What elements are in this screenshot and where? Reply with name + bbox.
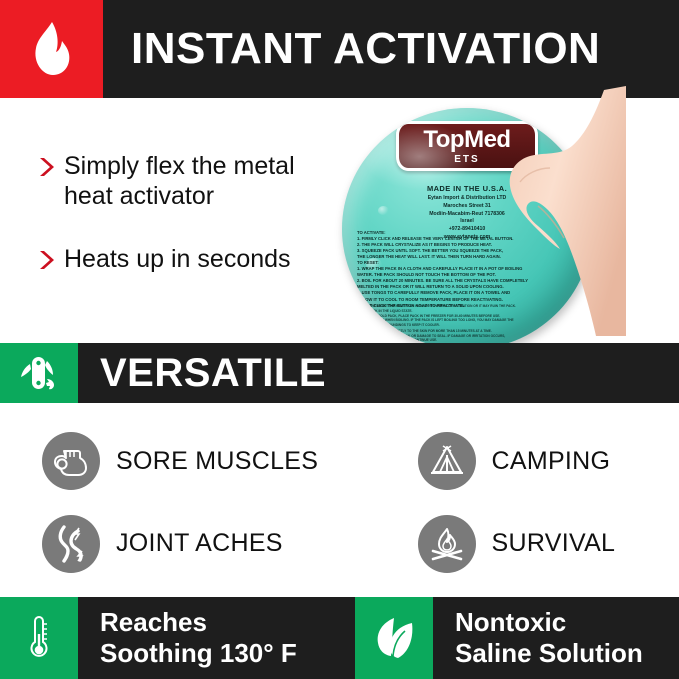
banner-instant-activation-title: INSTANT ACTIVATION [103,0,679,98]
bullet-item: Heats up in seconds [38,245,338,275]
feature-sore-muscles: SORE MUSCLES [0,420,340,503]
leaf-icon [372,615,416,661]
footer-text-block: Nontoxic Saline Solution [433,597,679,679]
hand-icon [476,86,626,336]
feature-label: SORE MUSCLES [116,447,318,476]
footer-line-2: Soothing 130° F [100,638,355,669]
tent-icon [418,432,476,490]
flame-icon-tile [0,0,103,98]
bullet-text: Heats up in seconds [64,245,291,275]
banner-instant-activation: INSTANT ACTIVATION [0,0,679,98]
footer-nontoxic-saline: Nontoxic Saline Solution [355,597,679,679]
feature-camping: CAMPING [340,420,679,503]
campfire-icon [418,515,476,573]
thermometer-icon [26,614,52,662]
chevron-right-icon [38,245,64,275]
feature-label: CAMPING [492,447,611,476]
swiss-army-knife-icon [20,353,58,393]
joint-pain-icon [42,515,100,573]
feature-joint-aches: JOINT ACHES [0,503,340,586]
footer-line-1: Reaches [100,607,355,638]
bullet-item: Simply flex the metal heat activator [38,152,338,211]
feature-label: SURVIVAL [492,529,616,558]
banner-versatile: VERSATILE [0,343,679,403]
product-photo: TopMed ETS ® MADE IN THE U.S.A. Eytan Im… [330,90,620,355]
banner-versatile-title: VERSATILE [78,343,679,403]
feature-survival: SURVIVAL [340,503,679,586]
infographic-page: INSTANT ACTIVATION Simply flex the metal… [0,0,679,679]
footer-reaches-soothing: Reaches Soothing 130° F [0,597,355,679]
footer-line-1: Nontoxic [455,607,679,638]
chevron-right-icon [38,152,64,182]
flame-icon [29,20,75,78]
footer-line-2: Saline Solution [455,638,679,669]
feature-label: JOINT ACHES [116,529,283,558]
feature-grid: SORE MUSCLES CAMPING [0,420,679,585]
footer-strips: Reaches Soothing 130° F Nontoxic Saline … [0,597,679,679]
thermometer-icon-tile [0,597,78,679]
flexed-bicep-icon [42,432,100,490]
footer-text-block: Reaches Soothing 130° F [78,597,355,679]
bullet-text: Simply flex the metal heat activator [64,152,338,211]
bullet-list: Simply flex the metal heat activator Hea… [38,152,338,301]
swiss-army-knife-icon-tile [0,343,78,403]
leaf-icon-tile [355,597,433,679]
